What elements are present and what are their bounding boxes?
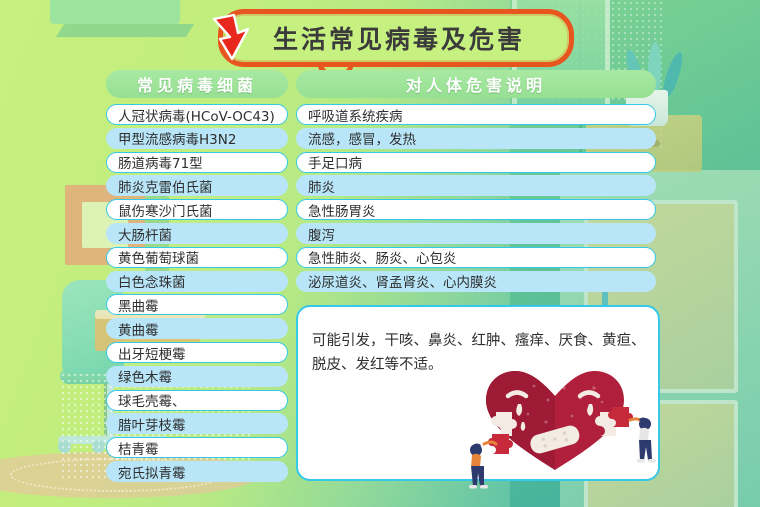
pathogen-row: 绿色木霉 bbox=[106, 366, 288, 387]
pathogen-row: 鼠伤寒沙门氏菌 bbox=[106, 199, 288, 220]
harm-row: 手足口病 bbox=[296, 152, 656, 173]
page-title: 生活常见病毒及危害 bbox=[267, 20, 525, 56]
pathogen-row: 黄色葡萄球菌 bbox=[106, 247, 288, 268]
pathogen-row: 大肠杆菌 bbox=[106, 223, 288, 244]
harm-row: 泌尿道炎、肾孟肾炎、心内膜炎 bbox=[296, 271, 656, 292]
red-arrow-ribbon-icon bbox=[212, 13, 252, 61]
pathogen-row: 黑曲霉 bbox=[106, 294, 288, 315]
pathogen-row: 桔青霉 bbox=[106, 437, 288, 458]
harm-row: 急性肠胃炎 bbox=[296, 199, 656, 220]
shelf-icon bbox=[50, 0, 180, 24]
pathogen-row: 肺炎克雷伯氏菌 bbox=[106, 175, 288, 196]
harm-row: 急性肺炎、肠炎、心包炎 bbox=[296, 247, 656, 268]
harm-row: 流感，感冒，发热 bbox=[296, 128, 656, 149]
pathogen-row: 宛氏拟青霉 bbox=[106, 461, 288, 482]
sad-crying-heart-icon bbox=[486, 371, 624, 470]
sad-crying-heart-illustration bbox=[460, 352, 660, 502]
pathogen-row: 腊叶芽枝霉 bbox=[106, 413, 288, 434]
harm-row: 肺炎 bbox=[296, 175, 656, 196]
pathogen-row: 人冠状病毒(HCoV-OC43) bbox=[106, 104, 288, 125]
pathogen-row: 白色念珠菌 bbox=[106, 271, 288, 292]
person-carrying-puzzle-icon bbox=[469, 434, 513, 489]
page-title-banner: 生活常见病毒及危害 bbox=[218, 9, 574, 67]
shelf-shadow-icon bbox=[56, 24, 194, 37]
pathogen-row: 甲型流感病毒H3N2 bbox=[106, 128, 288, 149]
harm-row: 呼吸道系统疾病 bbox=[296, 104, 656, 125]
column-header-harm: 对人体危害说明 bbox=[296, 70, 656, 98]
column-header-pathogen: 常见病毒细菌 bbox=[106, 70, 288, 98]
pathogen-row: 出牙短梗霉 bbox=[106, 342, 288, 363]
pathogen-row: 球毛壳霉、 bbox=[106, 390, 288, 411]
poster-canvas: 生活常见病毒及危害 常见病毒细菌 对人体危害说明 人冠状病毒(HCoV-OC43… bbox=[0, 0, 760, 507]
harm-row: 腹泻 bbox=[296, 223, 656, 244]
pathogen-row: 肠道病毒71型 bbox=[106, 152, 288, 173]
pathogen-row: 黄曲霉 bbox=[106, 318, 288, 339]
